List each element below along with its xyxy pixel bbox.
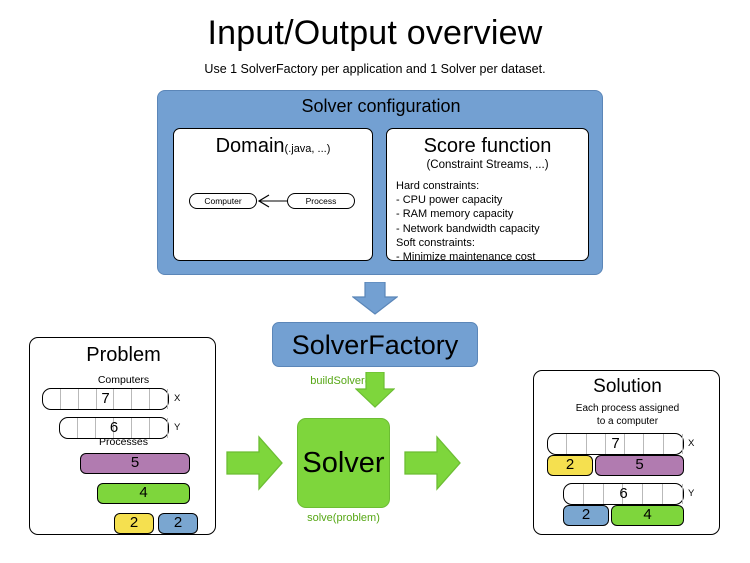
- domain-entity-diagram: Computer Process: [174, 187, 374, 217]
- constraint-line: - Minimize maintenance cost: [396, 250, 588, 264]
- computer-bar-x: 7: [42, 388, 169, 410]
- assigned-process-block[interactable]: 4: [611, 505, 684, 526]
- processes-label: Processes: [30, 436, 217, 448]
- process-block[interactable]: 5: [80, 453, 190, 474]
- computer-capacity-value: 6: [564, 484, 683, 504]
- domain-title-suffix: (.java, ...): [285, 143, 331, 155]
- computer-capacity-value: 6: [60, 418, 168, 438]
- score-constraint-list: Hard constraints: - CPU power capacity -…: [396, 179, 588, 264]
- arrow-down-icon: [352, 282, 398, 315]
- constraint-line: - CPU power capacity: [396, 193, 588, 207]
- assigned-process-block[interactable]: 2: [547, 455, 593, 476]
- solution-title: Solution: [534, 376, 721, 398]
- score-function-card: Score function (Constraint Streams, ...)…: [386, 128, 589, 261]
- arrow-right-icon: [226, 434, 284, 492]
- assigned-process-block[interactable]: 5: [595, 455, 684, 476]
- process-block[interactable]: 2: [158, 513, 198, 534]
- solution-computer-name-x: X: [688, 433, 694, 455]
- constraint-line: Hard constraints:: [396, 179, 588, 193]
- computer-name-x: X: [174, 388, 180, 410]
- assigned-process-block[interactable]: 2: [563, 505, 609, 526]
- process-block[interactable]: 4: [97, 483, 190, 504]
- domain-title-text: Domain: [216, 135, 285, 157]
- constraint-line: - Network bandwidth capacity: [396, 222, 588, 236]
- computers-label: Computers: [30, 374, 217, 386]
- solver-configuration-panel: Solver configuration Domain(.java, ...) …: [157, 90, 603, 275]
- constraint-line: - RAM memory capacity: [396, 207, 588, 221]
- problem-card: Problem Computers 7 X 6 Y Processes 5 4 …: [29, 337, 216, 535]
- domain-card: Domain(.java, ...) Computer Process: [173, 128, 373, 261]
- solution-card: Solution Each process assignedto a compu…: [533, 370, 720, 535]
- score-function-subtitle: (Constraint Streams, ...): [387, 159, 588, 171]
- solver-configuration-title: Solver configuration: [158, 96, 604, 117]
- solve-problem-label: solve(problem): [297, 512, 390, 524]
- association-arrow-icon: [257, 193, 287, 209]
- domain-card-title: Domain(.java, ...): [174, 135, 372, 158]
- problem-title: Problem: [30, 344, 217, 367]
- computer-capacity-value: 7: [548, 434, 683, 454]
- solution-computer-name-y: Y: [688, 483, 694, 505]
- page-title: Input/Output overview: [0, 14, 750, 53]
- computer-capacity-value: 7: [43, 389, 168, 409]
- page-subtitle: Use 1 SolverFactory per application and …: [0, 62, 750, 76]
- constraint-line: Soft constraints:: [396, 236, 588, 250]
- arrow-right-icon: [404, 434, 462, 492]
- process-block[interactable]: 2: [114, 513, 154, 534]
- entity-process[interactable]: Process: [287, 193, 355, 209]
- solution-computer-bar-x: 7: [547, 433, 684, 455]
- solver-factory-box: SolverFactory: [272, 322, 478, 367]
- arrow-down-icon: [355, 372, 395, 408]
- solver-box: Solver: [297, 418, 390, 508]
- solution-computer-bar-y: 6: [563, 483, 684, 505]
- solution-note: Each process assignedto a computer: [534, 403, 721, 428]
- entity-computer[interactable]: Computer: [189, 193, 257, 209]
- score-function-title: Score function: [387, 135, 588, 158]
